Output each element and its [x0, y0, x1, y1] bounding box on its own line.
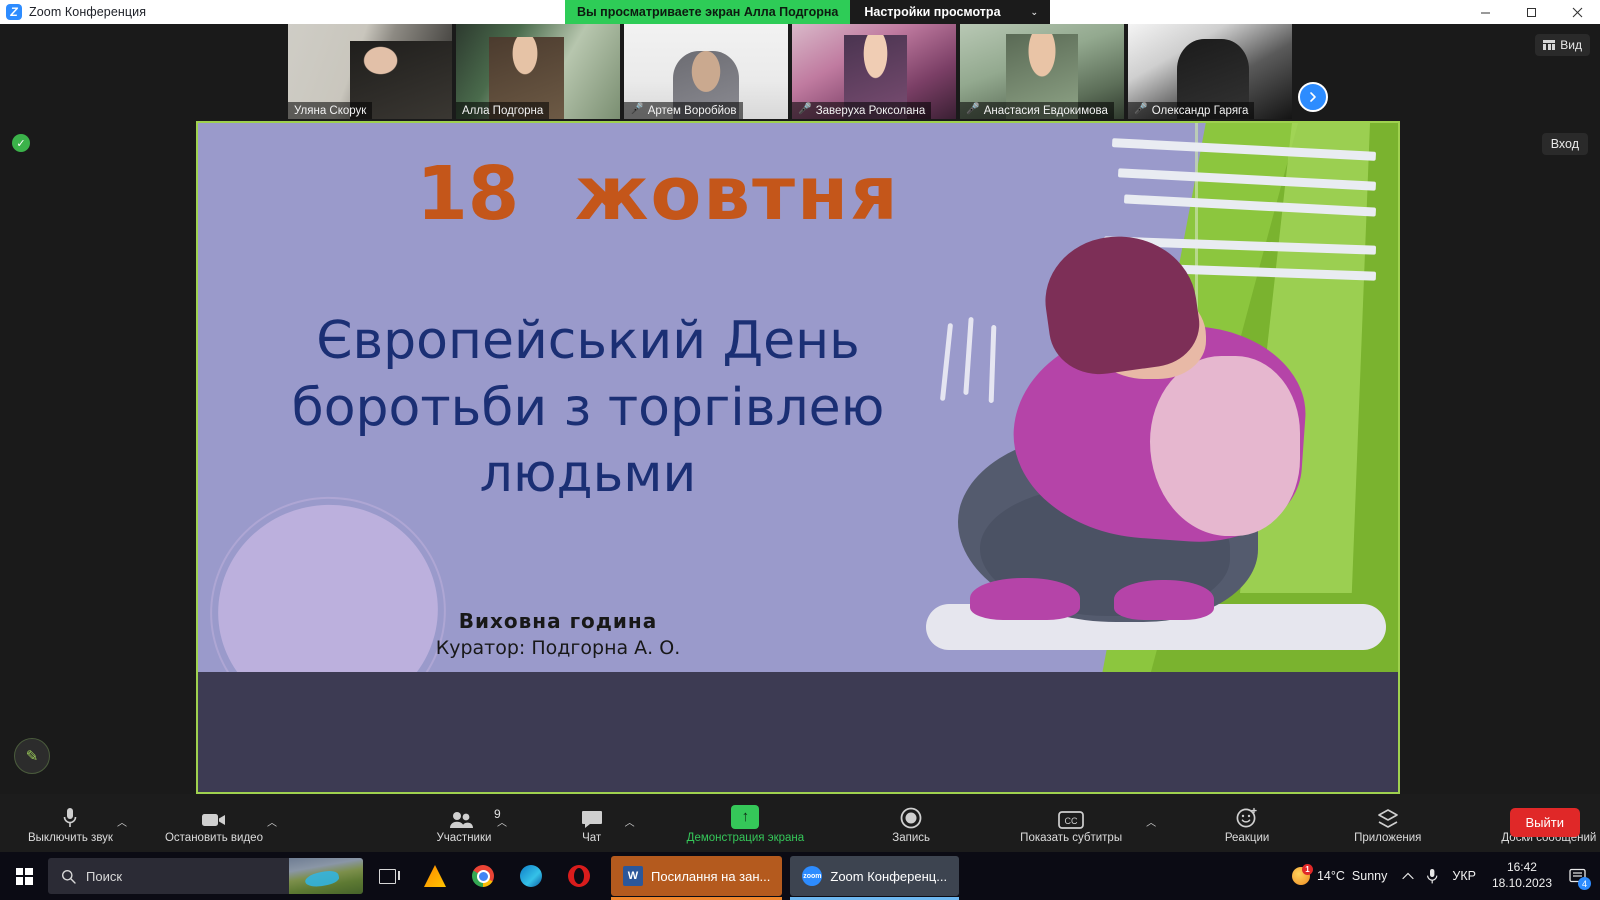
- toolbar-participants-wrap: Участники ︿ 9: [435, 794, 503, 852]
- participant-thumbnail[interactable]: Алла Подгорна: [456, 24, 620, 119]
- toolbar-video-wrap: Остановить видео ︿: [165, 794, 263, 852]
- toolbar-chat-wrap: Чат ︿: [563, 794, 621, 852]
- view-button[interactable]: Вид: [1535, 34, 1590, 56]
- participant-thumbnail[interactable]: 🎤 Олександр Гаряга: [1128, 24, 1292, 119]
- leave-meeting-button[interactable]: Выйти: [1510, 808, 1581, 837]
- slide-canvas: 18 жовтня Європейський День боротьби з т…: [198, 123, 1398, 792]
- maximize-icon[interactable]: [1508, 0, 1554, 24]
- camera-icon: [201, 803, 227, 829]
- shoe-shape: [970, 578, 1080, 620]
- record-label: Запись: [892, 832, 930, 844]
- participants-filmstrip: Уляна Скорук Алла Подгорна 🎤 Артем Вороб…: [0, 24, 1600, 119]
- toolbar-mute-wrap: Выключить звук ︿: [28, 794, 113, 852]
- search-icon: [61, 869, 76, 884]
- seated-person-illustration: [918, 236, 1338, 686]
- toolbar-share-wrap: ↑ Демонстрация экрана: [687, 794, 805, 852]
- search-placeholder: Поиск: [86, 869, 122, 884]
- stop-video-button[interactable]: Остановить видео ︿: [165, 794, 263, 852]
- language-label: УКР: [1452, 869, 1476, 883]
- toolbar-items: Выключить звук ︿ Остановить видео ︿: [28, 794, 1600, 852]
- taskbar-window-label: Посилання на зан...: [651, 869, 770, 884]
- weather-temperature: 14°C: [1317, 869, 1345, 883]
- captions-label: Показать субтитры: [1020, 832, 1122, 844]
- apps-icon: [1377, 803, 1399, 829]
- mic-muted-icon: 🎤: [966, 104, 980, 115]
- zoom-logo-icon: Z: [6, 4, 22, 20]
- slide-title: Європейський День боротьби з торгівлею л…: [218, 308, 958, 508]
- opera-icon[interactable]: [555, 852, 603, 900]
- minimize-icon[interactable]: [1462, 0, 1508, 24]
- microphone-icon: [62, 803, 78, 829]
- leave-label: Выйти: [1526, 815, 1565, 830]
- view-settings-button[interactable]: Настройки просмотра ⌄: [850, 0, 1050, 24]
- participants-label: Участники: [436, 832, 491, 844]
- mic-muted-icon: 🎤: [798, 104, 812, 115]
- share-screen-button[interactable]: ↑ Демонстрация экрана: [687, 794, 805, 852]
- svg-text:CC: CC: [1065, 816, 1078, 826]
- chevron-up-icon[interactable]: ︿: [267, 814, 277, 829]
- closed-captions-icon: CC: [1058, 803, 1084, 829]
- windows-taskbar: Поиск W Посилання на зан... zoom Zoom Ко…: [0, 852, 1600, 900]
- pencil-icon[interactable]: ✎: [14, 738, 50, 774]
- slide-curator: Куратор: Подгорна А. О.: [318, 637, 798, 659]
- participant-name: Анастасия Евдокимова: [984, 105, 1108, 117]
- chrome-icon[interactable]: [459, 852, 507, 900]
- edge-icon[interactable]: [507, 852, 555, 900]
- language-indicator[interactable]: УКР: [1444, 852, 1484, 900]
- captions-button[interactable]: CC Показать субтитры ︿: [1020, 794, 1122, 852]
- participant-thumbnail[interactable]: 🎤 Заверуха Роксолана: [792, 24, 956, 119]
- chevron-up-icon[interactable]: ︿: [625, 814, 635, 829]
- search-highlight-thumbnail: [289, 858, 363, 894]
- window-controls: [1462, 0, 1600, 24]
- shared-screen-slide: 18 жовтня Європейський День боротьби з т…: [196, 121, 1400, 794]
- reactions-label: Реакции: [1225, 832, 1269, 844]
- tray-microphone-button[interactable]: [1420, 852, 1444, 900]
- next-participants-button[interactable]: [1298, 82, 1328, 112]
- slide-date-month: жовтня: [575, 151, 900, 237]
- task-view-icon[interactable]: [363, 852, 411, 900]
- hair-shape: [1037, 226, 1204, 381]
- participant-name-bar: 🎤 Анастасия Евдокимова: [960, 102, 1114, 119]
- apps-label: Приложения: [1354, 832, 1421, 844]
- chevron-up-icon: [1402, 872, 1414, 880]
- reactions-icon: [1236, 803, 1258, 829]
- slide-subtitle: Виховна година: [318, 609, 798, 633]
- windows-start-icon[interactable]: [0, 852, 48, 900]
- clock-time: 16:42: [1507, 860, 1537, 876]
- participant-name: Уляна Скорук: [294, 105, 366, 117]
- notification-count: 4: [1578, 877, 1591, 890]
- participant-name-bar: 🎤 Олександр Гаряга: [1128, 102, 1254, 119]
- chevron-up-icon[interactable]: ︿: [117, 814, 127, 829]
- mute-label: Выключить звук: [28, 832, 113, 844]
- participant-name: Заверуха Роксолана: [816, 105, 926, 117]
- participant-name: Алла Подгорна: [462, 105, 543, 117]
- word-icon: W: [623, 866, 643, 886]
- participant-name: Артем Воробйов: [648, 105, 737, 117]
- microphone-tray-icon: [1426, 868, 1438, 885]
- weather-widget[interactable]: 1 14°C Sunny: [1283, 852, 1396, 900]
- login-button[interactable]: Вход: [1542, 133, 1588, 155]
- vlc-icon[interactable]: [411, 852, 459, 900]
- slide-title-line-2: боротьби з торгівлею: [218, 375, 958, 442]
- tray-expand-button[interactable]: [1396, 852, 1420, 900]
- mic-muted-icon: 🎤: [1134, 104, 1148, 115]
- share-status-label: Вы просматриваете экран Алла Подгорна: [565, 0, 850, 24]
- participant-name-bar: Уляна Скорук: [288, 102, 372, 119]
- login-label: Вход: [1551, 137, 1579, 151]
- slide-date-number: 18: [416, 151, 519, 237]
- taskbar-window-zoom[interactable]: zoom Zoom Конференц...: [790, 856, 959, 896]
- taskbar-clock[interactable]: 16:42 18.10.2023: [1484, 852, 1560, 900]
- chat-icon: [581, 803, 603, 829]
- reactions-button[interactable]: Реакции: [1218, 794, 1276, 852]
- participant-name-bar: 🎤 Заверуха Роксолана: [792, 102, 931, 119]
- toolbar-reactions-wrap: Реакции: [1218, 794, 1276, 852]
- chevron-down-icon: ⌄: [1031, 7, 1039, 18]
- taskbar-window-word[interactable]: W Посилання на зан...: [611, 856, 782, 896]
- toolbar-record-wrap: Запись: [882, 794, 940, 852]
- search-input[interactable]: Поиск: [48, 858, 363, 894]
- clock-date: 18.10.2023: [1492, 876, 1552, 892]
- participants-count: 9: [494, 807, 501, 821]
- slide-title-line-1: Європейський День: [218, 308, 958, 375]
- apps-button[interactable]: Приложения: [1354, 794, 1421, 852]
- participant-name-bar: Алла Подгорна: [456, 102, 549, 119]
- share-screen-icon: ↑: [731, 803, 759, 829]
- weather-badge: 1: [1302, 864, 1313, 875]
- participants-button[interactable]: Участники ︿: [435, 794, 493, 852]
- slide-title-line-3: людьми: [218, 441, 958, 508]
- zoom-bottom-toolbar: Выключить звук ︿ Остановить видео ︿: [0, 794, 1600, 852]
- mute-button[interactable]: Выключить звук ︿: [28, 794, 113, 852]
- slide-date: 18 жовтня: [398, 151, 918, 237]
- participant-thumbnail[interactable]: Уляна Скорук: [288, 24, 452, 119]
- mic-muted-icon: 🎤: [630, 104, 644, 115]
- screen-share-banner: Вы просматриваете экран Алла Подгорна На…: [565, 0, 1050, 24]
- share-screen-label: Демонстрация экрана: [687, 832, 805, 844]
- grid-view-icon: [1543, 40, 1555, 50]
- floor-band: [198, 672, 1398, 792]
- sun-icon: 1: [1292, 867, 1310, 885]
- weather-description: Sunny: [1352, 869, 1387, 883]
- stop-video-label: Остановить видео: [165, 832, 263, 844]
- close-icon[interactable]: [1554, 0, 1600, 24]
- participant-thumbnail[interactable]: 🎤 Артем Воробйов: [624, 24, 788, 119]
- view-settings-label: Настройки просмотра: [864, 5, 1000, 19]
- thumbnail-list: Уляна Скорук Алла Подгорна 🎤 Артем Вороб…: [288, 24, 1292, 119]
- participant-name: Олександр Гаряга: [1152, 105, 1249, 117]
- view-label: Вид: [1560, 38, 1582, 52]
- slide-footer: Виховна година Куратор: Подгорна А. О.: [318, 609, 798, 659]
- record-icon: [900, 803, 922, 829]
- zoom-meeting-window: Z Zoom Конференция Вы просматриваете экр…: [0, 0, 1600, 900]
- zoom-icon: zoom: [802, 866, 822, 886]
- shield-check-icon[interactable]: ✓: [12, 134, 30, 152]
- shoe-shape: [1114, 580, 1214, 620]
- taskbar-window-label: Zoom Конференц...: [830, 869, 947, 884]
- chat-label: Чат: [582, 832, 601, 844]
- chevron-right-icon: [1307, 91, 1319, 103]
- notification-icon[interactable]: 4: [1560, 852, 1594, 900]
- toolbar-captions-wrap: CC Показать субтитры ︿: [1020, 794, 1122, 852]
- participant-thumbnail[interactable]: 🎤 Анастасия Евдокимова: [960, 24, 1124, 119]
- chat-button[interactable]: Чат ︿: [563, 794, 621, 852]
- system-tray: 1 14°C Sunny УКР 16:42: [1283, 852, 1600, 900]
- window-title: Zoom Конференция: [29, 5, 146, 19]
- participant-name-bar: 🎤 Артем Воробйов: [624, 102, 743, 119]
- toolbar-apps-wrap: Приложения: [1354, 794, 1421, 852]
- chevron-up-icon[interactable]: ︿: [1146, 814, 1156, 829]
- record-button[interactable]: Запись: [882, 794, 940, 852]
- participants-icon: [449, 803, 479, 829]
